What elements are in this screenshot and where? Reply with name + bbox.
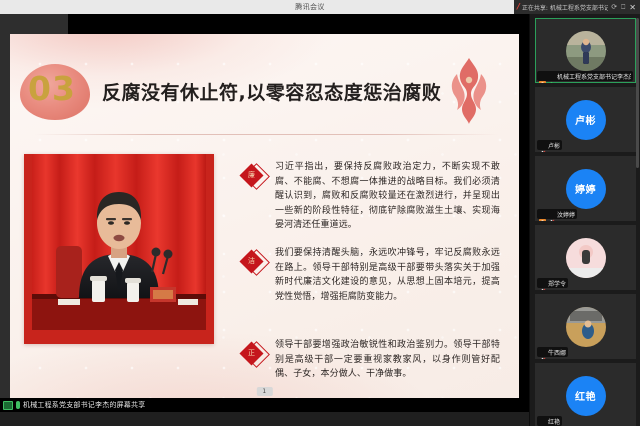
restore-icon[interactable]: ⟳ <box>610 3 618 11</box>
speaker-photo-illustration <box>32 154 206 330</box>
participant-name: 卢彬 <box>548 141 560 150</box>
seal-ornament-icon: 正 <box>242 344 268 370</box>
participant-rail[interactable]: 机械工程系党支部书记李杰的屏...卢彬卢彬婷婷汶婷婷郑学令牛西娜红艳红艳徐亚楠 <box>529 14 640 426</box>
slide-paragraph-1: 习近平指出，要保持反腐败政治定力，不断实现不敢腐、不能腐、不想腐一体推进的战略目… <box>275 160 500 233</box>
avatar-initials: 卢彬 <box>566 100 606 140</box>
app-title: 腾讯会议 <box>295 2 325 12</box>
section-number: 03 <box>28 72 76 105</box>
participant-tile[interactable]: 婷婷汶婷婷 <box>535 156 636 221</box>
participant-tile[interactable]: 卢彬卢彬 <box>535 87 636 152</box>
participant-label: 郑学令 <box>537 278 568 288</box>
decorative-flourish-icon <box>445 56 493 126</box>
slide-paragraph-3: 领导干部要增强政治敏锐性和政治鉴别力。领导干部特别是高级干部一定要重视家教家风，… <box>275 338 500 382</box>
host-badge-icon <box>539 211 546 218</box>
host-badge-icon <box>539 73 546 80</box>
slide-page-indicator: 1 <box>256 387 272 396</box>
participant-name: 红艳 <box>548 417 560 426</box>
minimize-icon[interactable]: ⎕ <box>620 3 626 12</box>
title-divider <box>34 134 499 135</box>
share-status-bar: 机械工程系党支部书记李杰的屏幕共享 <box>0 398 529 412</box>
tencent-meeting-window: 腾讯会议 / 正在共享: 机械工程系党支部书记李杰的屏幕共享 ⟳ ⎕ ✕ 03 … <box>0 0 640 426</box>
participant-tile[interactable]: 红艳红艳 <box>535 363 636 426</box>
avatar-initials: 红艳 <box>566 376 606 416</box>
seal-ornament-icon: 廉 <box>242 166 268 192</box>
screen-share-tab[interactable]: / 正在共享: 机械工程系党支部书记李杰的屏幕共享 ⟳ ⎕ ✕ <box>514 0 640 14</box>
participant-label: 牛西娜 <box>537 347 568 357</box>
participant-name: 郑学令 <box>548 279 566 288</box>
shared-screen-stage: 03 反腐没有休止符,以零容忍态度惩治腐败 <box>0 14 529 412</box>
slide-text-block: 正 领导干部要增强政治敏锐性和政治鉴别力。领导干部特别是高级干部一定要重视家教家… <box>242 338 500 382</box>
slide-paragraph-2: 我们要保持清醒头脑，永远吹冲锋号，牢记反腐败永远在路上。领导干部特别是高级干部要… <box>275 246 500 304</box>
participant-tile[interactable]: 牛西娜 <box>535 294 636 359</box>
microphone-icon <box>16 401 20 409</box>
slide-text-block: 洁 我们要保持清醒头脑，永远吹冲锋号，牢记反腐败永远在路上。领导干部特别是高级干… <box>242 246 500 304</box>
seal-glyph: 正 <box>242 344 261 363</box>
share-tab-title: 正在共享: 机械工程系党支部书记李杰的屏幕共享 <box>522 3 608 12</box>
participant-name: 汶婷婷 <box>557 210 575 219</box>
participant-tile[interactable]: 郑学令 <box>535 225 636 290</box>
microphone-muted-icon <box>539 142 546 149</box>
avatar-photo <box>566 31 606 71</box>
avatar-photo <box>566 238 606 278</box>
microphone-muted-icon <box>539 418 546 425</box>
screen-share-icon <box>3 401 13 410</box>
slide-photo <box>32 154 206 330</box>
close-icon[interactable]: ✕ <box>628 3 637 12</box>
recording-icon: / <box>517 3 520 11</box>
participant-label: 卢彬 <box>537 140 562 150</box>
presentation-slide: 03 反腐没有休止符,以零容忍态度惩治腐败 <box>10 34 519 401</box>
share-status-text: 机械工程系党支部书记李杰的屏幕共享 <box>23 400 145 410</box>
participant-label: 机械工程系党支部书记李杰的屏... <box>537 71 633 81</box>
seal-glyph: 洁 <box>242 252 261 271</box>
seal-ornament-icon: 洁 <box>242 252 268 278</box>
participant-name: 机械工程系党支部书记李杰的屏... <box>557 72 631 81</box>
microphone-icon <box>548 73 555 80</box>
slide-text-block: 廉 习近平指出，要保持反腐败政治定力，不断实现不敢腐、不能腐、不想腐一体推进的战… <box>242 160 500 233</box>
avatar-photo <box>566 307 606 347</box>
slide-title: 反腐没有休止符,以零容忍态度惩治腐败 <box>102 78 441 105</box>
microphone-muted-icon <box>539 349 546 356</box>
slide-photo-card <box>24 154 214 344</box>
seal-glyph: 廉 <box>242 166 261 185</box>
participant-label: 汶婷婷 <box>537 209 577 219</box>
participant-label: 红艳 <box>537 416 562 426</box>
participant-name: 牛西娜 <box>548 348 566 357</box>
microphone-muted-icon <box>539 280 546 287</box>
microphone-muted-icon <box>548 211 555 218</box>
participant-tile[interactable]: 机械工程系党支部书记李杰的屏... <box>535 18 636 83</box>
avatar-initials: 婷婷 <box>566 169 606 209</box>
participant-rail-scrollbar[interactable] <box>636 18 639 168</box>
